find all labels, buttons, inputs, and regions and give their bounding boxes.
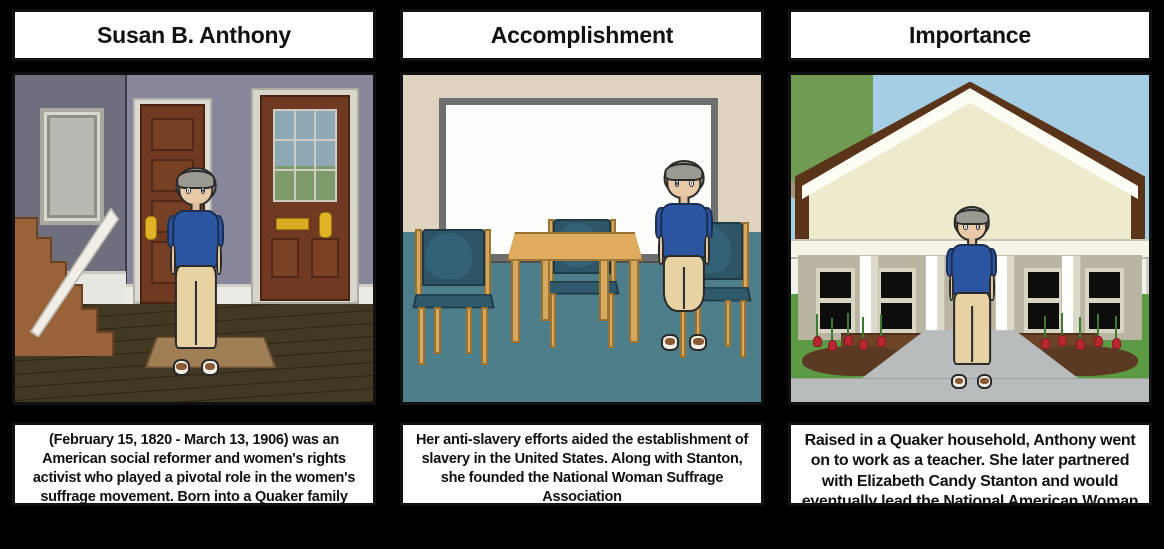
panel-2-caption: Her anti-slavery efforts aided the estab… — [411, 431, 753, 506]
tan-pants — [175, 265, 217, 349]
staircase — [15, 219, 112, 356]
arm-right — [216, 244, 222, 275]
sandal-left — [951, 374, 967, 389]
meeting-table[interactable] — [507, 232, 643, 343]
hair-top — [176, 170, 215, 189]
susan-b-anthony-avatar[interactable] — [650, 160, 718, 363]
blue-shirt — [172, 210, 220, 269]
meeting-room-scene — [403, 75, 761, 402]
hair-top — [954, 209, 989, 225]
storyboard-panel-2[interactable]: Accomplishment — [388, 0, 776, 549]
sandal-right — [977, 374, 993, 389]
sandal-left — [661, 334, 679, 350]
door-window-panes — [273, 109, 336, 202]
panel-1-title: Susan B. Anthony — [97, 22, 291, 49]
susan-b-anthony-avatar[interactable] — [941, 206, 1002, 389]
sandal-right — [201, 359, 219, 376]
panel-2-title-box[interactable]: Accomplishment — [400, 9, 764, 61]
door-knob-icon[interactable] — [145, 216, 157, 240]
panel-3-caption-box[interactable]: Raised in a Quaker household, Anthony we… — [788, 422, 1152, 506]
panel-3-title-box[interactable]: Importance — [788, 9, 1152, 61]
panel-1-title-box[interactable]: Susan B. Anthony — [12, 9, 376, 61]
house-exterior-scene — [791, 75, 1149, 402]
panel-3-scene[interactable] — [788, 72, 1152, 405]
tan-pants — [953, 292, 991, 365]
window-far-right — [1085, 268, 1124, 333]
panel-1-scene[interactable] — [12, 72, 376, 405]
storyboard: Susan B. Anthony — [0, 0, 1164, 549]
panel-2-scene[interactable] — [400, 72, 764, 405]
eye-right-icon — [689, 180, 694, 186]
window-left — [877, 268, 916, 333]
sandal-right — [689, 334, 707, 350]
panel-3-title: Importance — [909, 22, 1031, 49]
framed-mirror — [40, 108, 104, 226]
chair-left[interactable] — [414, 229, 493, 366]
blue-shirt — [950, 244, 993, 295]
panel-2-title: Accomplishment — [491, 22, 674, 49]
mail-slot-icon — [276, 218, 309, 230]
front-door[interactable] — [260, 95, 350, 301]
front-door-knob-icon[interactable] — [319, 212, 332, 238]
panel-1-caption: (February 15, 1820 - March 13, 1906) was… — [23, 431, 365, 506]
susan-b-anthony-avatar[interactable] — [162, 167, 230, 376]
blue-shirt — [660, 203, 708, 260]
hair-top — [664, 163, 703, 181]
storyboard-panel-1[interactable]: Susan B. Anthony — [0, 0, 388, 549]
panel-2-caption-box[interactable]: Her anti-slavery efforts aided the estab… — [400, 422, 764, 506]
home-entryway-scene — [15, 75, 373, 402]
storyboard-panel-3[interactable]: Importance — [776, 0, 1164, 549]
window-far-left — [816, 268, 855, 333]
eye-left-icon — [963, 224, 967, 230]
sandal-left — [173, 359, 191, 376]
eye-left-icon — [675, 180, 680, 186]
tan-pants — [663, 255, 705, 312]
panel-3-caption: Raised in a Quaker household, Anthony we… — [799, 431, 1141, 506]
panel-1-caption-box[interactable]: (February 15, 1820 - March 13, 1906) was… — [12, 422, 376, 506]
